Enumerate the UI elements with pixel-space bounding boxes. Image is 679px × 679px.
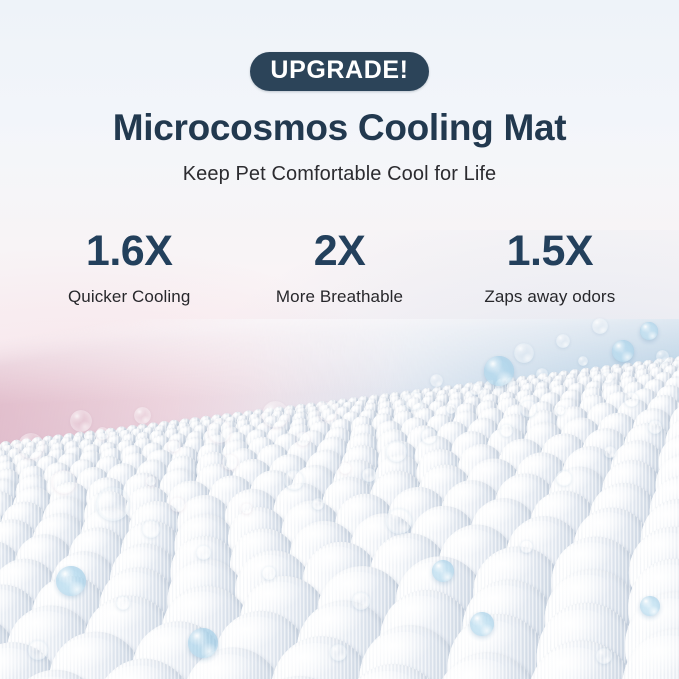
stat-item-2: 1.5X Zaps away odors xyxy=(445,230,655,307)
stat-value: 2X xyxy=(234,230,444,273)
stat-value: 1.6X xyxy=(24,230,234,273)
stat-label: More Breathable xyxy=(234,287,444,307)
stat-label: Zaps away odors xyxy=(445,287,655,307)
upgrade-badge: UPGRADE! xyxy=(250,52,428,91)
marketing-copy: UPGRADE! Microcosmos Cooling Mat Keep Pe… xyxy=(0,0,679,307)
stat-item-0: 1.6X Quicker Cooling xyxy=(24,230,234,307)
cooling-mat-image xyxy=(0,319,679,679)
stat-label: Quicker Cooling xyxy=(24,287,234,307)
feature-stats: 1.6X Quicker Cooling 2X More Breathable … xyxy=(0,230,679,307)
page-subtitle: Keep Pet Comfortable Cool for Life xyxy=(0,163,679,186)
stat-item-1: 2X More Breathable xyxy=(234,230,444,307)
badge-row: UPGRADE! xyxy=(0,52,679,91)
page-title: Microcosmos Cooling Mat xyxy=(0,107,679,149)
product-banner: UPGRADE! Microcosmos Cooling Mat Keep Pe… xyxy=(0,0,679,679)
stat-value: 1.5X xyxy=(445,230,655,273)
